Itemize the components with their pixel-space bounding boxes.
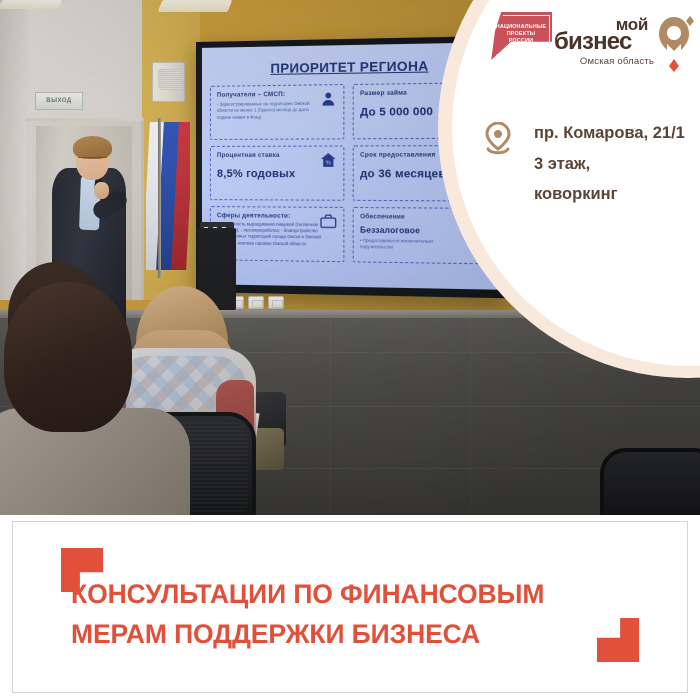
national-projects-line3: РОССИИ (493, 38, 549, 44)
person-icon (320, 90, 338, 108)
presenter-hand (94, 182, 109, 199)
address-lines: пр. Комарова, 21/1 3 этаж, коворкинг (534, 118, 700, 210)
exit-sign: ВЫХОД (35, 92, 83, 110)
wall-socket (248, 296, 264, 309)
national-projects-badge: ЭКОНОМИКА НАЦИОНАЛЬНЫЕ ПРОЕКТЫ РОССИИ (490, 12, 552, 60)
briefcase-icon (320, 213, 338, 231)
presenter-glasses (78, 157, 107, 163)
slide-card-sub: • Предоставляется исключительно поручите… (360, 238, 468, 253)
floor-tile-line (330, 318, 331, 515)
map-pin-icon (484, 122, 512, 156)
brand-word-bottom: бизнес (554, 30, 632, 54)
moy-biznes-logo: мой бизнес Омская область (558, 14, 692, 76)
slide-card: Получатели – СМСП: - Зарегистрированные … (210, 84, 344, 140)
address-line-2: 3 этаж, (534, 149, 700, 180)
banner-title: КОНСУЛЬТАЦИИ ПО ФИНАНСОВЫМ МЕРАМ ПОДДЕРЖ… (71, 574, 651, 655)
house-percent-icon: % (320, 152, 338, 169)
floor-tile-line (470, 318, 471, 515)
exit-sign-label: ВЫХОД (46, 98, 71, 104)
wall-socket (268, 296, 284, 309)
wall-speaker (152, 62, 185, 102)
brand-region: Омская область (580, 56, 654, 67)
address-line-3: коворкинг (534, 179, 700, 210)
slide-card-head: Получатели – СМСП: (217, 91, 310, 99)
chair (600, 448, 700, 515)
location-pin-rocket-icon (652, 14, 696, 72)
slide-card-head: Процентная ставка (217, 152, 310, 159)
national-projects-line1: НАЦИОНАЛЬНЫЕ (493, 24, 549, 30)
slide-card-value: 8,5% годовых (217, 168, 337, 180)
ceiling-light (158, 0, 233, 12)
banner-frame: КОНСУЛЬТАЦИИ ПО ФИНАНСОВЫМ МЕРАМ ПОДДЕРЖ… (12, 521, 688, 693)
audience-member-head (4, 282, 132, 432)
slide-card-head: Обеспечение (360, 213, 458, 221)
national-projects-eco-label: ЭКОНОМИКА (502, 17, 548, 21)
banner-title-line-2: МЕРАМ ПОДДЕРЖКИ БИЗНЕСА (71, 614, 651, 654)
svg-text:%: % (326, 161, 331, 167)
address-line-1: пр. Комарова, 21/1 (534, 118, 700, 149)
ceiling-light (0, 0, 62, 9)
national-projects-line2: ПРОЕКТЫ (493, 31, 549, 37)
banner-title-line-1: КОНСУЛЬТАЦИИ ПО ФИНАНСОВЫМ (71, 574, 651, 614)
russian-flag (146, 122, 190, 270)
presenter-hair (73, 136, 112, 159)
badge-content: ЭКОНОМИКА НАЦИОНАЛЬНЫЕ ПРОЕКТЫ РОССИИ мо… (452, 0, 700, 240)
slide-card-head: Сферы деятельности: (217, 212, 310, 220)
poster-root: ВЫХОД ПРИОРИТЕТ РЕГИОНА Получатели – СМС… (0, 0, 700, 700)
slide-card-sub: - Зарегистрированные на территории Омско… (217, 101, 320, 121)
slide-card: Процентная ставка % 8,5% годовых (210, 145, 344, 200)
bottom-banner: КОНСУЛЬТАЦИИ ПО ФИНАНСОВЫМ МЕРАМ ПОДДЕРЖ… (0, 515, 700, 700)
flag-pole (158, 118, 161, 278)
